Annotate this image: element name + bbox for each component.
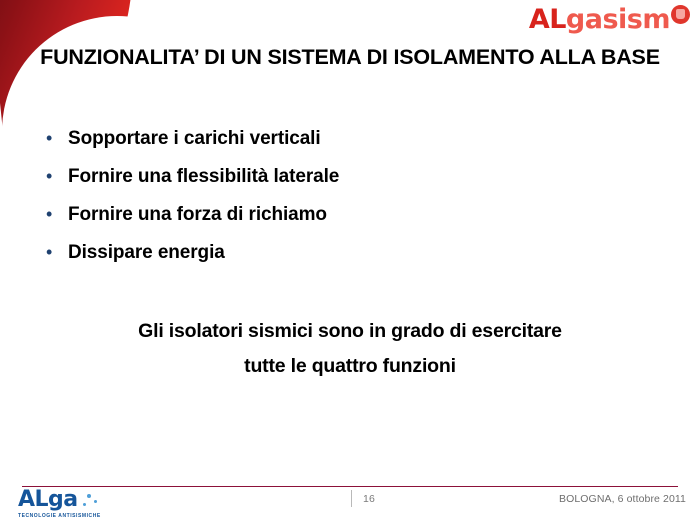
footer-logo-wordmark: ALga — [18, 487, 78, 512]
conclusion-line-2: tutte le quattro funzioni — [50, 349, 650, 384]
presentation-slide: ALgasism FUNZIONALITA’ DI UN SISTEMA DI … — [0, 0, 700, 525]
slide-title: FUNZIONALITA’ DI UN SISTEMA DI ISOLAMENT… — [30, 42, 670, 72]
footer-logo-wordmark-row: ALga — [18, 489, 168, 511]
list-item: • Dissipare energia — [46, 240, 606, 278]
list-item: • Sopportare i carichi verticali — [46, 126, 606, 164]
list-item-label: Dissipare energia — [68, 241, 225, 265]
footer-event-info: BOLOGNA, 6 ottobre 2011 — [559, 493, 686, 505]
list-item-label: Fornire una forza di richiamo — [68, 203, 327, 227]
footer-logo-tagline: TECNOLOGIE ANTISISMICHE — [18, 512, 168, 520]
brand-badge-icon — [671, 5, 690, 24]
footer-divider — [22, 486, 678, 487]
conclusion-statement: Gli isolatori sismici sono in grado di e… — [50, 314, 650, 384]
list-item-label: Fornire una flessibilità laterale — [68, 165, 339, 189]
brand-wordmark: ALgasism — [529, 6, 670, 34]
conclusion-line-1: Gli isolatori sismici sono in grado di e… — [50, 314, 650, 349]
brand-logo-algasism: ALgasism — [529, 6, 690, 38]
footer-separator — [351, 490, 352, 507]
list-item: • Fornire una forza di richiamo — [46, 202, 606, 240]
white-arc-mask — [2, 16, 140, 140]
slide-page-number: 16 — [363, 493, 375, 505]
bullet-list: • Sopportare i carichi verticali • Forni… — [46, 126, 606, 278]
footer-logo-alga: ALga TECNOLOGIE ANTISISMICHE — [18, 489, 168, 520]
brand-wordmark-prefix: AL — [529, 4, 566, 35]
bullet-marker-icon: • — [46, 164, 68, 188]
bullet-marker-icon: • — [46, 202, 68, 226]
list-item: • Fornire una flessibilità laterale — [46, 164, 606, 202]
bullet-marker-icon: • — [46, 240, 68, 264]
list-item-label: Sopportare i carichi verticali — [68, 127, 321, 151]
brand-wordmark-suffix: gasism — [566, 4, 670, 35]
bullet-marker-icon: • — [46, 126, 68, 150]
footer-logo-dots-icon — [78, 493, 102, 511]
